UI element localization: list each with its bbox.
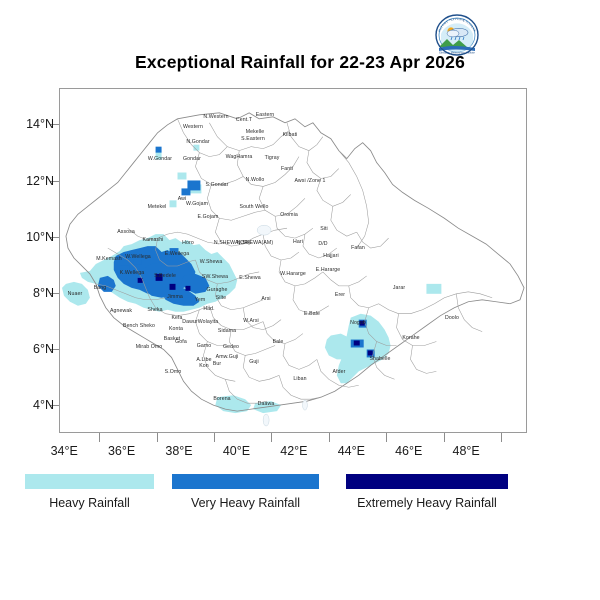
map-region-label: Nogob — [350, 320, 366, 326]
map-region-label: Bench Sheko — [123, 323, 155, 329]
map-region-label: Western — [183, 124, 203, 130]
map-region-label: Kon — [199, 363, 209, 369]
map-region-label: Siti — [320, 226, 328, 232]
map-region-label: Gofa — [175, 339, 187, 345]
y-tick-label: 6°N — [0, 342, 54, 356]
map-region-label: Guji — [249, 359, 259, 365]
y-tick-label: 8°N — [0, 286, 54, 300]
map-region-label: E.Shewa — [239, 275, 260, 281]
map-region-label: W.Gojam — [186, 201, 208, 207]
y-tick-label: 14°N — [0, 117, 54, 131]
x-tick-mark — [329, 433, 330, 442]
logo-svg: የኢትዮጵያ ሚተዮሮሎጂ ኢንስቲቱት Ethiopian Meteorolo… — [425, 14, 489, 58]
map-region-label: Liban — [293, 376, 306, 382]
map-region-label: W.Gondar — [148, 156, 172, 162]
map-region-label: Bang — [94, 285, 107, 291]
legend-swatch — [25, 474, 154, 489]
map-region-label: SW.Shewa — [202, 274, 228, 280]
x-tick-label: 48°E — [431, 444, 501, 458]
map-region-label: Jimma — [167, 294, 183, 300]
map-region-label: E.Wellega — [165, 251, 189, 257]
x-tick-mark — [444, 433, 445, 442]
map-region-label: E.Bale — [304, 311, 320, 317]
page-title: Exceptional Rainfall for 22-23 Apr 2026 — [0, 52, 600, 73]
legend: Heavy RainfallVery Heavy RainfallExtreme… — [0, 474, 600, 518]
map-region-label: Fanti — [281, 166, 293, 172]
map-region-label: Amw.Guji — [216, 354, 239, 360]
map-region-label: E.Hararge — [316, 267, 341, 273]
map-region-label: Doolo — [445, 315, 459, 321]
map-region-label: Dawur — [182, 319, 198, 325]
map-region-label: Mirab Omo — [136, 344, 163, 350]
map-region-label: Jarar — [393, 285, 405, 291]
legend-item[interactable]: Extremely Heavy Rainfall — [346, 474, 508, 510]
logo-bottom-text: Ethiopian Meteorology Institute — [439, 51, 475, 55]
map-region-label: Korahe — [402, 335, 419, 341]
legend-swatch — [346, 474, 508, 489]
map-region-label: N.Western — [203, 114, 228, 120]
map-region-label: Hajjari — [323, 253, 338, 259]
map-region-label: M.Kemash — [96, 256, 122, 262]
map-region-label: Gedeo — [223, 344, 239, 350]
x-tick-mark — [157, 433, 158, 442]
map-region-label: S.Omo — [165, 369, 182, 375]
map-region-label: South Wello — [240, 204, 269, 210]
legend-label: Extremely Heavy Rainfall — [346, 496, 508, 510]
map-region-label: Shabelle — [370, 356, 391, 362]
x-tick-mark — [501, 433, 502, 442]
map-region-label: Guraghe — [207, 287, 228, 293]
legend-label: Very Heavy Rainfall — [172, 496, 319, 510]
map-region-label: Afder — [333, 369, 346, 375]
y-tick-label: 10°N — [0, 230, 54, 244]
map-region-label: Erer — [335, 292, 345, 298]
map-region-label: Had. — [203, 306, 214, 312]
legend-swatch — [172, 474, 319, 489]
map-region-label: Konta — [169, 326, 183, 332]
map-region-label: W.Shewa — [200, 259, 223, 265]
legend-item[interactable]: Heavy Rainfall — [25, 474, 154, 510]
x-tick-mark — [271, 433, 272, 442]
map-region-label: Wolayita — [198, 319, 219, 325]
map-region-label: N.Gondar — [186, 139, 209, 145]
map-region-label: Eastern — [256, 112, 275, 118]
map-region-label: S.Eastern — [241, 136, 265, 142]
map-region-label: N.Wollo — [246, 177, 265, 183]
x-tick-mark — [99, 433, 100, 442]
map-region-label: Metekel — [148, 204, 167, 210]
map-region-label: Mekelle — [246, 129, 265, 135]
map-region-label: Borena — [213, 396, 230, 402]
figure-root: Exceptional Rainfall for 22-23 Apr 2026 … — [0, 0, 600, 600]
map-region-label: K.Wellega — [120, 270, 144, 276]
map-region-label: WagHamra — [226, 154, 253, 160]
map-region-label: Agnewak — [110, 308, 132, 314]
map-region-label: Cent.T — [236, 117, 252, 123]
map-region-label: Sheka — [147, 307, 162, 313]
map-region-label: Gondar — [183, 156, 201, 162]
map-region-label: S.Bedele — [154, 273, 176, 279]
map-region-label: Fafan — [351, 245, 365, 251]
y-tick-label: 4°N — [0, 398, 54, 412]
map-region-label: E.Gojam — [198, 214, 219, 220]
map-region-label: S.Gondar — [205, 182, 228, 188]
map-region-label: Kefa — [171, 315, 182, 321]
legend-item[interactable]: Very Heavy Rainfall — [172, 474, 319, 510]
map-region-label: Yem — [195, 297, 206, 303]
map-plot-area: WesternN.WesternCent.TEasternMekelleS.Ea… — [59, 88, 527, 433]
ethiopian-meteorology-institute-logo: የኢትዮጵያ ሚተዮሮሎጂ ኢንስቲቱት Ethiopian Meteorolo… — [425, 14, 489, 58]
map-region-label: Oromia — [280, 212, 298, 218]
map-region-label: Nuaer — [68, 291, 83, 297]
x-tick-mark — [214, 433, 215, 442]
map-region-label: Bale — [273, 339, 284, 345]
map-region-label: Kilbati — [283, 132, 298, 138]
map-region-label: Arsi — [261, 296, 270, 302]
map-region-label: Assosa — [117, 229, 135, 235]
x-tick-mark — [386, 433, 387, 442]
map-region-label: W.Arsi — [243, 318, 259, 324]
map-region-label: Hari — [293, 239, 303, 245]
map-region-label: Bur — [213, 361, 221, 367]
y-tick-label: 12°N — [0, 174, 54, 188]
map-region-label: Kamashi — [143, 237, 164, 243]
map-region-label: Sidama — [218, 328, 236, 334]
map-region-label: Tigray — [265, 155, 280, 161]
map-region-label: Horo — [182, 240, 194, 246]
map-region-label: N.SHEWA(AM) — [237, 240, 273, 246]
map-region-label: Daawa — [258, 401, 275, 407]
map-region-label: Awsi /Zone 1 — [294, 178, 325, 184]
map-region-label: W.Hararge — [280, 271, 306, 277]
map-region-label: Gamo — [197, 343, 212, 349]
map-region-label: W.Wellega — [125, 254, 151, 260]
legend-label: Heavy Rainfall — [25, 496, 154, 510]
map-region-label: D/D — [318, 241, 327, 247]
map-region-label: Silte — [216, 295, 227, 301]
